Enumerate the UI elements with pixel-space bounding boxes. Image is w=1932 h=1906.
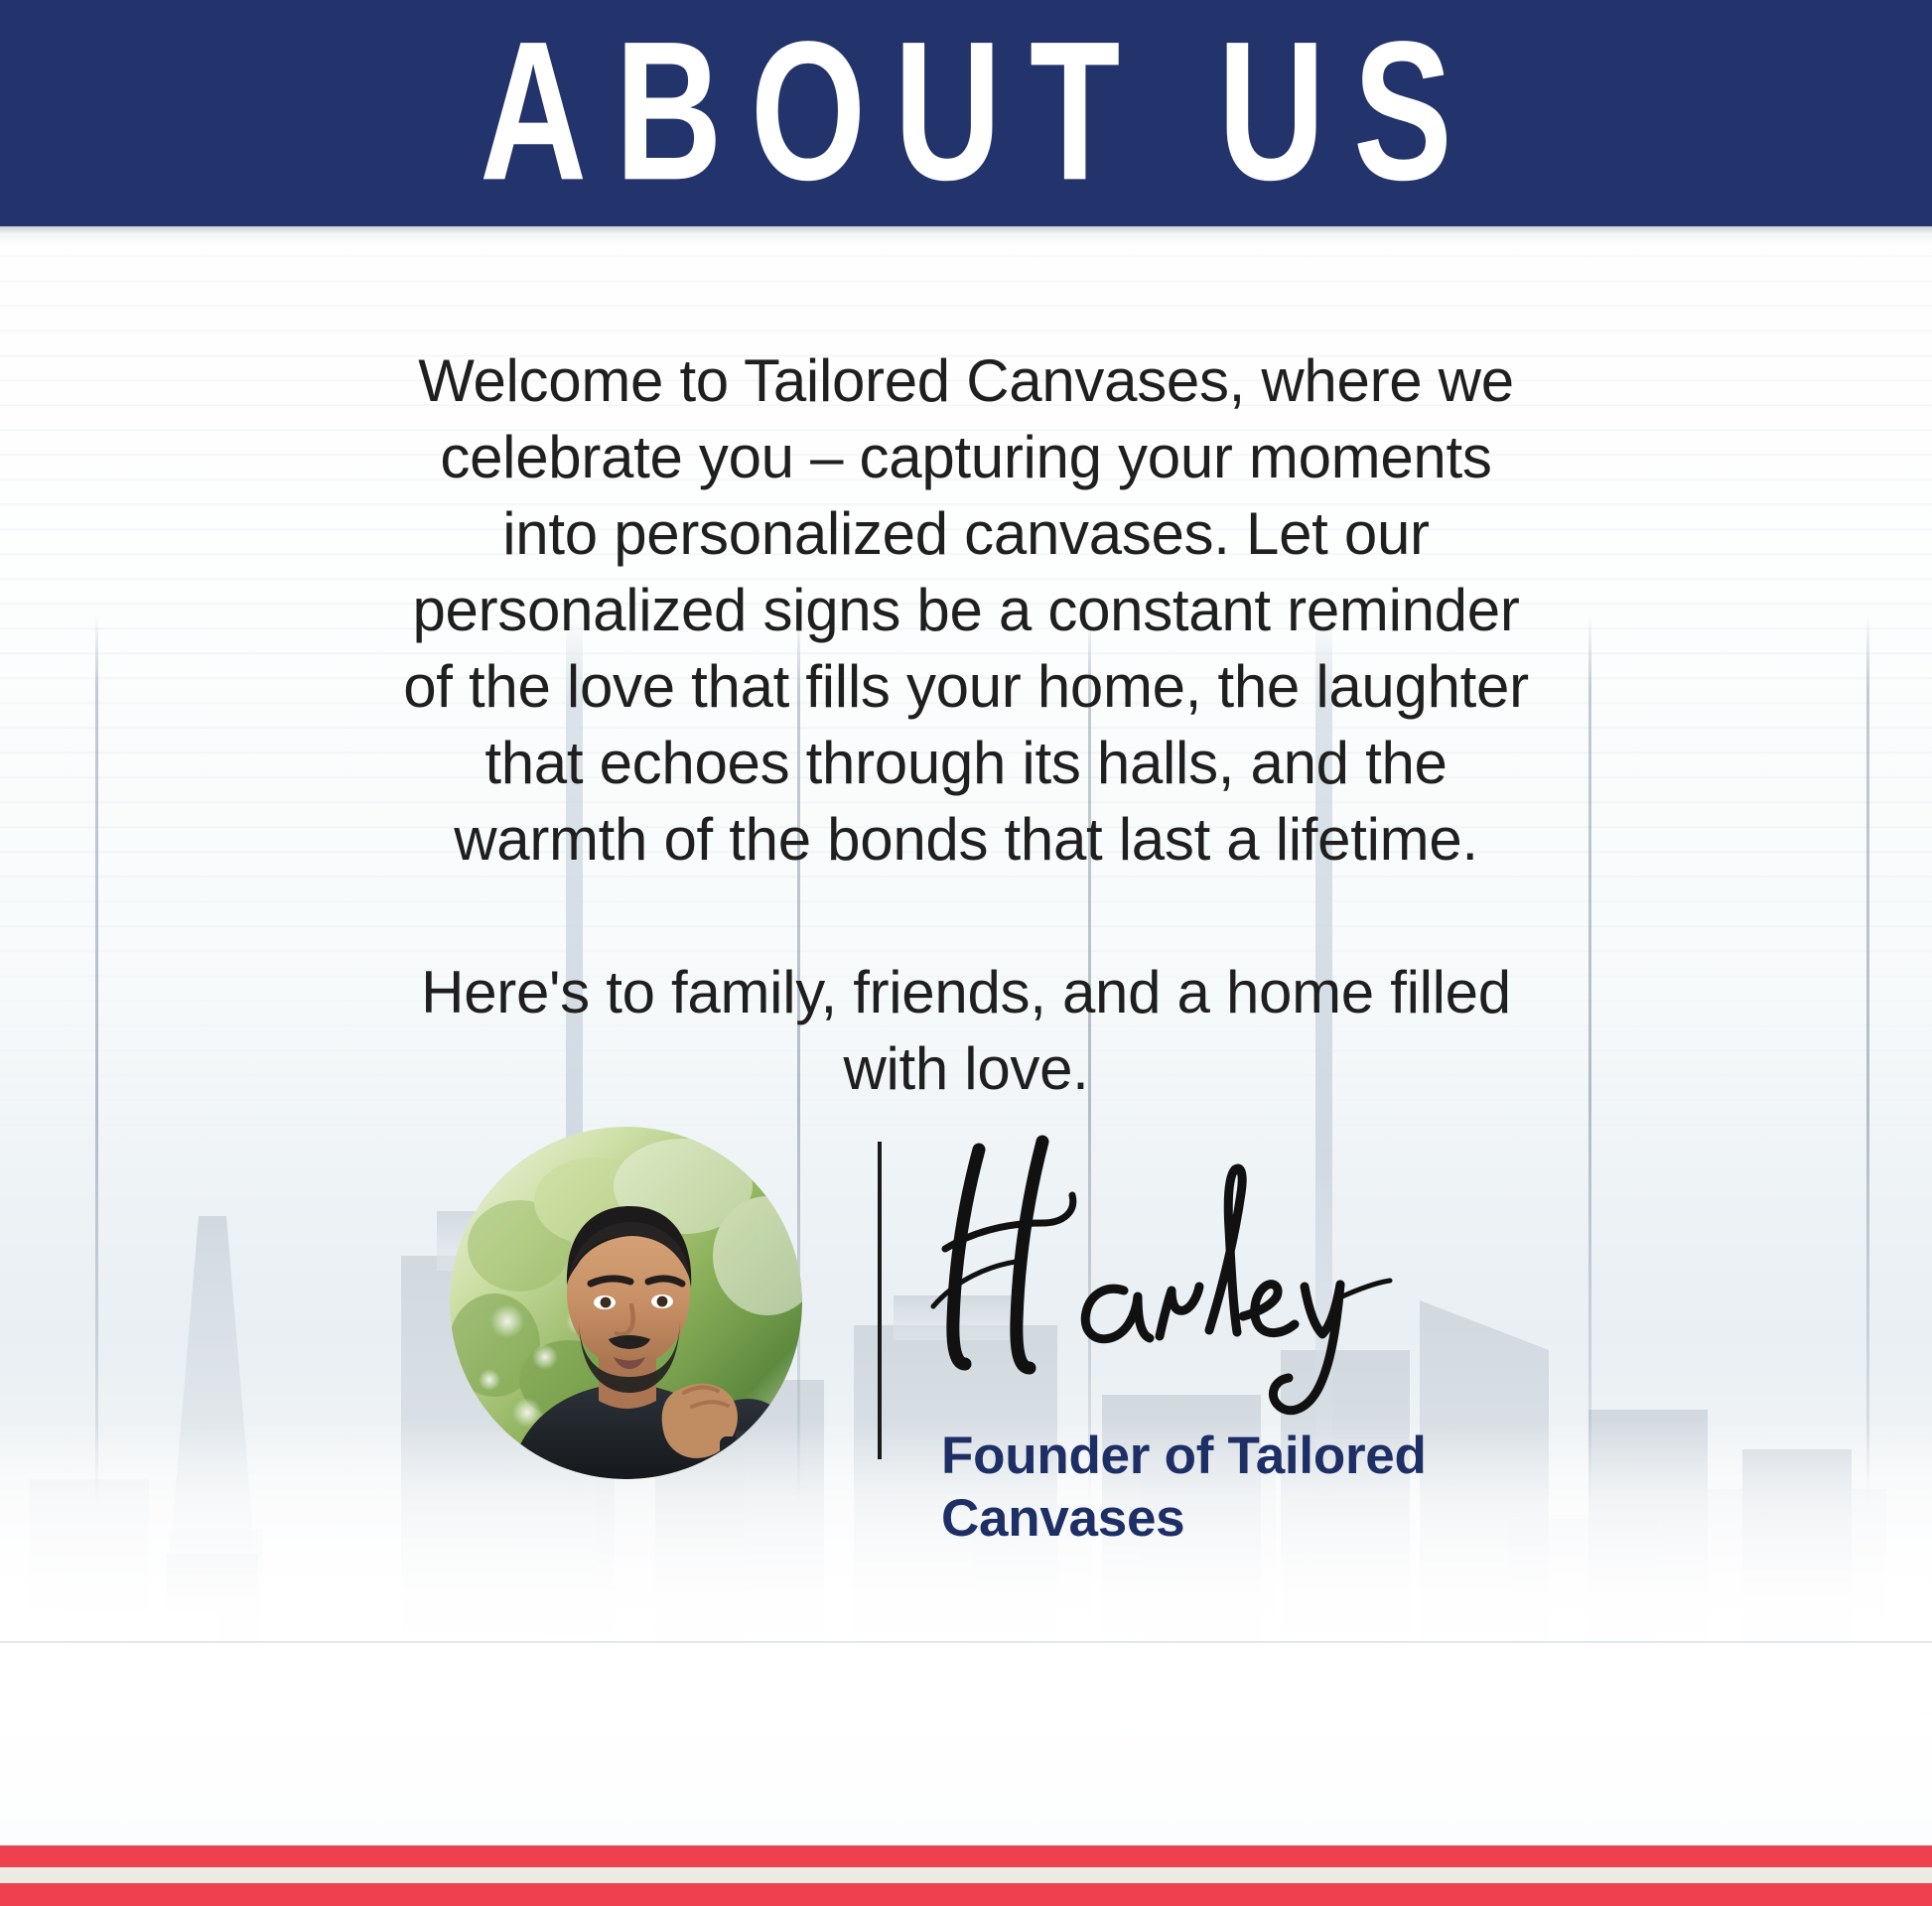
founder-title: Founder of Tailored Canvases [941, 1425, 1636, 1550]
signature-block: Founder of Tailored Canvases [0, 1420, 1932, 1817]
footer-stripe-gap [0, 1867, 1932, 1883]
founder-title-line-2: Canvases [941, 1487, 1636, 1550]
footer-stripe-bottom [0, 1883, 1932, 1906]
handwritten-signature [894, 1132, 1509, 1420]
page-title: ABOUT US [452, 12, 1480, 209]
window-mullion [95, 615, 98, 1509]
body-line: Here's to family, friends, and a home fi… [246, 954, 1686, 1030]
footer-stripe-top [0, 1845, 1932, 1867]
window-mullion [1866, 615, 1869, 1509]
header-drop-shadow [0, 226, 1932, 244]
body-line: into personalized canvases. Let our [246, 495, 1686, 572]
body-line: celebrate you – capturing your moments [246, 419, 1686, 495]
body-line: personalized signs be a constant reminde… [246, 572, 1686, 648]
paragraph-gap [246, 878, 1686, 954]
body-line: warmth of the bonds that last a lifetime… [246, 801, 1686, 878]
avatar [450, 1127, 802, 1479]
header-bar: ABOUT US [0, 0, 1932, 226]
about-us-body: Welcome to Tailored Canvases, where we c… [246, 342, 1686, 1107]
body-line: of the love that fills your home, the la… [246, 648, 1686, 725]
body-line: that echoes through its halls, and the [246, 725, 1686, 801]
signature-divider [878, 1142, 882, 1459]
founder-title-line-1: Founder of Tailored [941, 1425, 1636, 1487]
body-line: with love. [246, 1030, 1686, 1107]
body-line: Welcome to Tailored Canvases, where we [246, 342, 1686, 419]
about-us-poster: ABOUT US Welcome to Tailored Canvases, w… [0, 0, 1932, 1906]
